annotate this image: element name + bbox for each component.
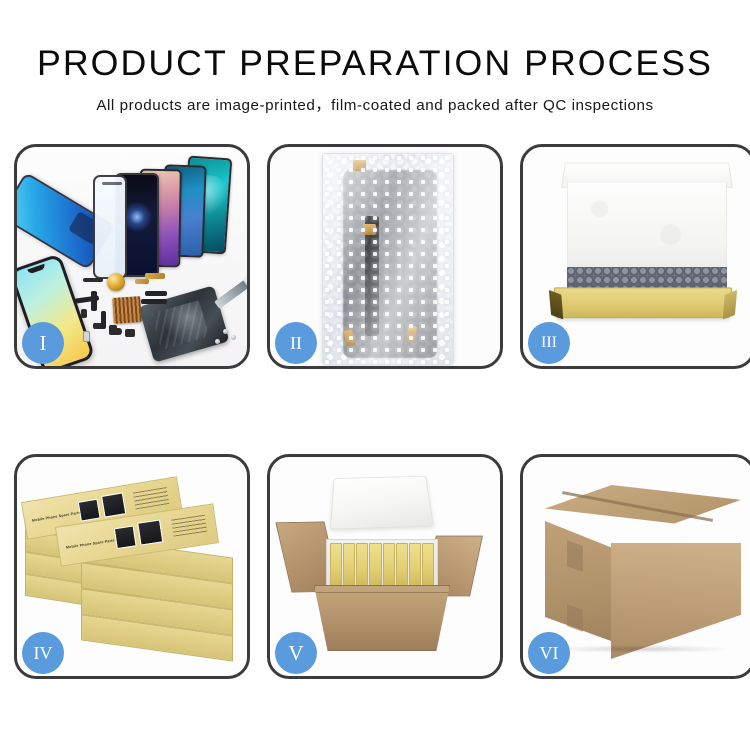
gold-flex-connector <box>145 273 165 279</box>
page-title: PRODUCT PREPARATION PROCESS <box>0 44 750 84</box>
inner-box <box>356 543 368 587</box>
step-badge-3: III <box>528 322 570 364</box>
flex-cable <box>141 299 167 304</box>
process-step-2: II <box>267 144 503 369</box>
header: PRODUCT PREPARATION PROCESS All products… <box>0 0 750 115</box>
phone-back-chassis <box>139 285 230 362</box>
flex-cable <box>145 291 167 296</box>
chip-component <box>125 329 135 337</box>
inner-box <box>343 543 355 587</box>
copper-mesh-chip <box>112 296 142 324</box>
carton-tape-upper <box>567 540 583 572</box>
step-badge-1: I <box>22 322 64 364</box>
screw <box>223 329 228 334</box>
process-step-3: III <box>520 144 750 369</box>
chip-component <box>83 278 103 282</box>
carton-front-panel <box>314 585 450 651</box>
process-step-grid: I II <box>14 144 736 679</box>
screw <box>231 335 236 340</box>
carton-right-face <box>611 543 741 659</box>
chip-component <box>109 325 117 335</box>
process-step-5: V <box>267 454 503 679</box>
inner-boxes-group <box>330 543 434 587</box>
small-white-component <box>83 331 90 342</box>
chip-component <box>81 309 87 318</box>
step-badge-5: V <box>275 632 317 674</box>
bubble-wrap-bag <box>322 153 454 365</box>
process-step-6: VI <box>520 454 750 679</box>
box-front-panel <box>554 287 733 318</box>
flex-cable <box>91 291 97 311</box>
step-badge-6: VI <box>528 632 570 674</box>
screwdriver-tool <box>214 278 247 309</box>
product-preparation-infographic: PRODUCT PREPARATION PROCESS All products… <box>0 0 750 750</box>
foam-liner <box>567 183 727 269</box>
step-badge-4: IV <box>22 632 64 674</box>
screw <box>215 339 220 344</box>
process-step-4: Mobile Phone Spare Parts <box>14 454 250 679</box>
inner-box <box>369 543 381 587</box>
sealed-carton <box>545 485 741 651</box>
carton-tape-lower <box>567 604 583 632</box>
step-badge-2: II <box>275 322 317 364</box>
tempered-glass-film <box>93 175 127 279</box>
carton-shadow <box>553 645 729 653</box>
bubble-texture <box>323 154 453 364</box>
inner-box <box>330 543 342 587</box>
foam-lid <box>330 476 434 530</box>
gold-flex-connector <box>135 279 149 284</box>
gold-coil-component <box>107 273 125 291</box>
flex-cable <box>101 311 106 329</box>
page-subtitle: All products are image-printed，film-coat… <box>0 93 750 115</box>
inner-box <box>396 543 408 587</box>
inner-box <box>422 543 434 587</box>
inner-box <box>383 543 395 587</box>
stacked-box <box>81 625 233 651</box>
inner-box <box>409 543 421 587</box>
process-step-1: I <box>14 144 250 369</box>
